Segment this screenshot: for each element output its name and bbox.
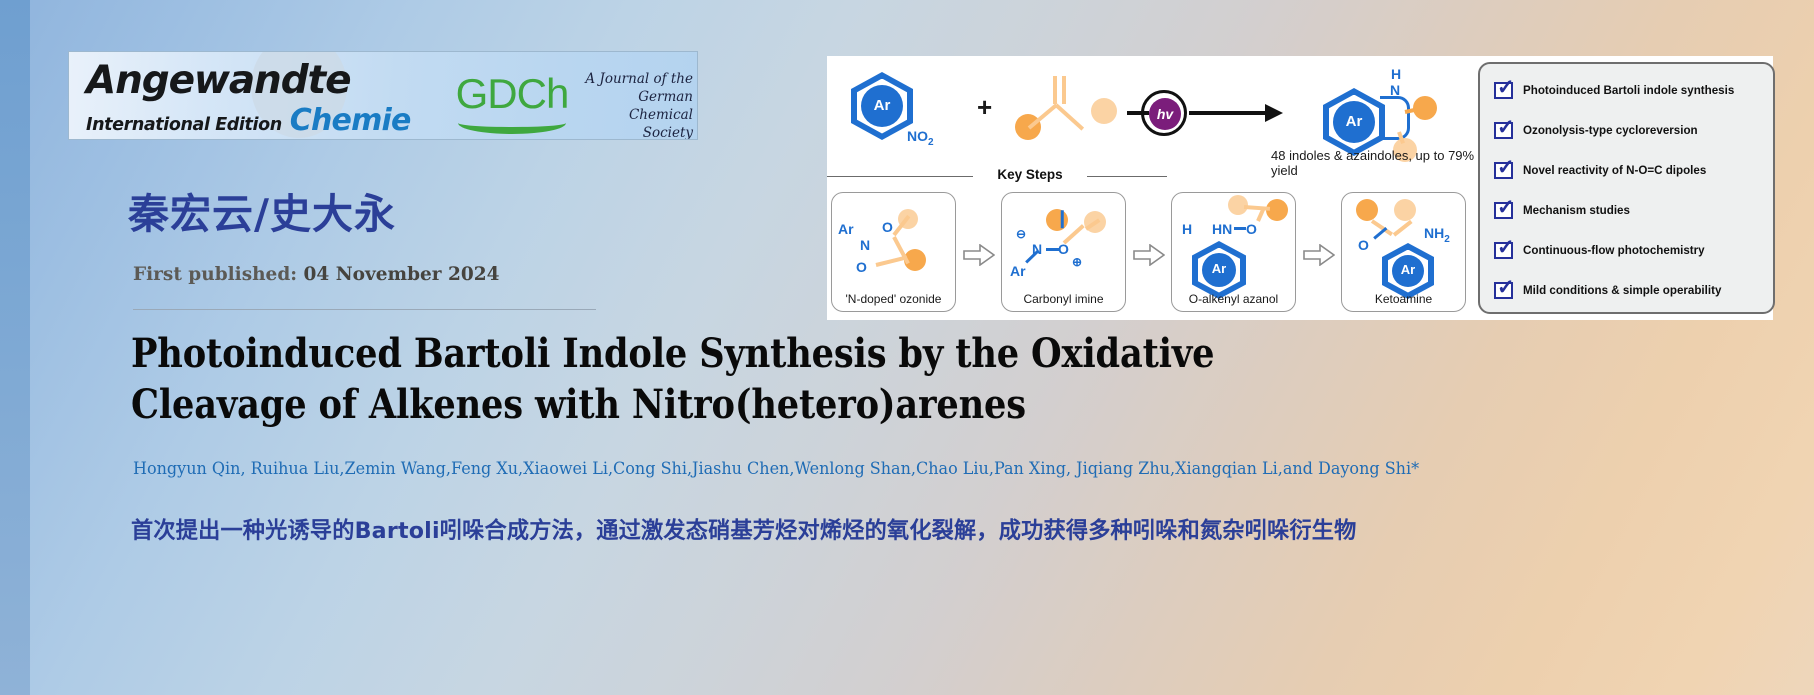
step-caption: O-alkenyl azanol [1172, 292, 1295, 306]
page-title: Photoinduced Bartoli Indole Synthesis by… [131, 328, 1345, 430]
positive-charge-icon: ⊕ [1072, 255, 1082, 269]
author-list[interactable]: Hongyun Qin, Ruihua Liu,Zemin Wang,Feng … [133, 459, 1419, 478]
o-label: O [1246, 221, 1257, 237]
divider-rule [133, 309, 596, 310]
step-box-ketoamine: O NH2 Ar Ketoamine [1341, 192, 1466, 312]
poster-canvas: Angewandte International Edition Chemie … [0, 0, 1814, 695]
cn-presenters: 秦宏云/史大永 [128, 180, 396, 240]
transition-arrow-icon [1133, 244, 1165, 266]
aryl-hexagon-icon: Ar [1382, 243, 1434, 299]
checkbox-checked-icon[interactable]: ✓ [1494, 282, 1513, 299]
aryl-hexagon-icon: Ar [1323, 88, 1385, 156]
step-box-ozonide: Ar N O O 'N-doped' ozonide [831, 192, 956, 312]
checkbox-checked-icon[interactable]: ✓ [1494, 82, 1513, 99]
double-bond [1062, 76, 1066, 104]
hn-label: HN [1212, 221, 1232, 237]
o-label: O [856, 259, 867, 275]
amine-label: NH2 [1424, 225, 1450, 245]
n-label: N [860, 237, 870, 253]
indole-h-label: H [1391, 66, 1401, 82]
aryl-hexagon-icon: Ar [1192, 241, 1246, 299]
journal-name-main: Angewandte [86, 61, 411, 101]
orb-light [1394, 199, 1416, 221]
orb-light [1091, 98, 1117, 124]
aryl-hexagon-icon: Ar [851, 72, 913, 140]
orb-dark [1046, 209, 1068, 231]
double-bond [1053, 76, 1057, 104]
h-label: H [1182, 221, 1192, 237]
highlight-item: ✓ Mechanism studies [1494, 198, 1766, 222]
angewandte-wordmark: Angewandte International Edition Chemie [86, 61, 411, 138]
highlight-label: Ozonolysis-type cycloreversion [1523, 124, 1698, 137]
step-box-carbonyl-imine: ⊖ N O ⊕ Ar Carbonyl imine [1001, 192, 1126, 312]
plus-sign: + [977, 92, 992, 123]
highlight-item: ✓ Ozonolysis-type cycloreversion [1494, 118, 1766, 142]
negative-charge-icon: ⊖ [1016, 227, 1026, 241]
nitro-group-label: NO2 [907, 128, 934, 148]
bond [1046, 248, 1060, 251]
highlight-item: ✓ Continuous-flow photochemistry [1494, 238, 1766, 262]
highlight-item: ✓ Mild conditions & simple operability [1494, 278, 1766, 302]
reactant-nitroarene: Ar NO2 [851, 72, 913, 140]
highlight-label: Mild conditions & simple operability [1523, 284, 1721, 297]
reactant-alkene [1015, 74, 1135, 144]
o-label: O [882, 219, 893, 235]
journal-edition-label: International Edition [86, 115, 282, 135]
journal-name-sub: Chemie [290, 103, 411, 138]
checkbox-checked-icon[interactable]: ✓ [1494, 202, 1513, 219]
bond [1393, 220, 1413, 237]
photon-label: hv [1149, 98, 1181, 130]
pyrrole-ring [1380, 96, 1410, 140]
aryl-label: Ar [1323, 113, 1385, 130]
step-caption: Ketoamine [1342, 292, 1465, 306]
orb-dark [1356, 199, 1378, 221]
published-label: First published: [133, 264, 297, 285]
checkbox-checked-icon[interactable]: ✓ [1494, 122, 1513, 139]
bond [1055, 104, 1084, 131]
highlights-checklist: ✓ Photoinduced Bartoli indole synthesis … [1478, 62, 1775, 314]
photochemical-arrow: hv [1127, 78, 1307, 138]
key-steps-label: Key Steps [975, 167, 1085, 182]
ar-label: Ar [838, 221, 854, 237]
checkbox-checked-icon[interactable]: ✓ [1494, 242, 1513, 259]
transition-arrow-icon [963, 244, 995, 266]
step-box-azanol: H HN O Ar O-alkenyl azanol [1171, 192, 1296, 312]
gdch-acronym: GDCh [452, 72, 572, 116]
o-label: O [1358, 237, 1369, 253]
highlight-label: Mechanism studies [1523, 204, 1630, 217]
highlight-item: ✓ Novel reactivity of N-O=C dipoles [1494, 158, 1766, 182]
ar-label: Ar [1010, 263, 1026, 279]
bond [1063, 224, 1085, 244]
highlight-item: ✓ Photoinduced Bartoli indole synthesis [1494, 78, 1766, 102]
cn-summary: 首次提出一种光诱导的Bartoli吲哚合成方法，通过激发态硝基芳烃对烯烃的氧化裂… [131, 513, 1357, 545]
step-caption: 'N-doped' ozonide [832, 292, 955, 306]
gdch-logo: GDCh [452, 72, 572, 134]
highlight-label: Photoinduced Bartoli indole synthesis [1523, 84, 1734, 97]
highlight-label: Continuous-flow photochemistry [1523, 244, 1705, 257]
publication-date: First published: 04 November 2024 [133, 264, 499, 285]
bond [1234, 227, 1246, 230]
society-tagline: A Journal of the German Chemical Society [581, 70, 693, 140]
aryl-label: Ar [1192, 261, 1246, 276]
double-bond [1061, 210, 1064, 228]
highlight-label: Novel reactivity of N-O=C dipoles [1523, 164, 1706, 177]
arrow-head-icon [1265, 104, 1283, 122]
reaction-scheme-top: Ar NO2 + hv [827, 56, 1477, 164]
step-caption: Carbonyl imine [1002, 292, 1125, 306]
journal-logo-banner: Angewandte International Edition Chemie … [68, 51, 698, 140]
aryl-label: Ar [851, 97, 913, 114]
published-date-value: 04 November 2024 [304, 264, 500, 285]
checkbox-checked-icon[interactable]: ✓ [1494, 162, 1513, 179]
left-edge-band [0, 0, 30, 695]
bond [1244, 205, 1270, 211]
transition-arrow-icon [1303, 244, 1335, 266]
bond [1371, 219, 1393, 236]
aryl-label: Ar [1382, 262, 1434, 277]
